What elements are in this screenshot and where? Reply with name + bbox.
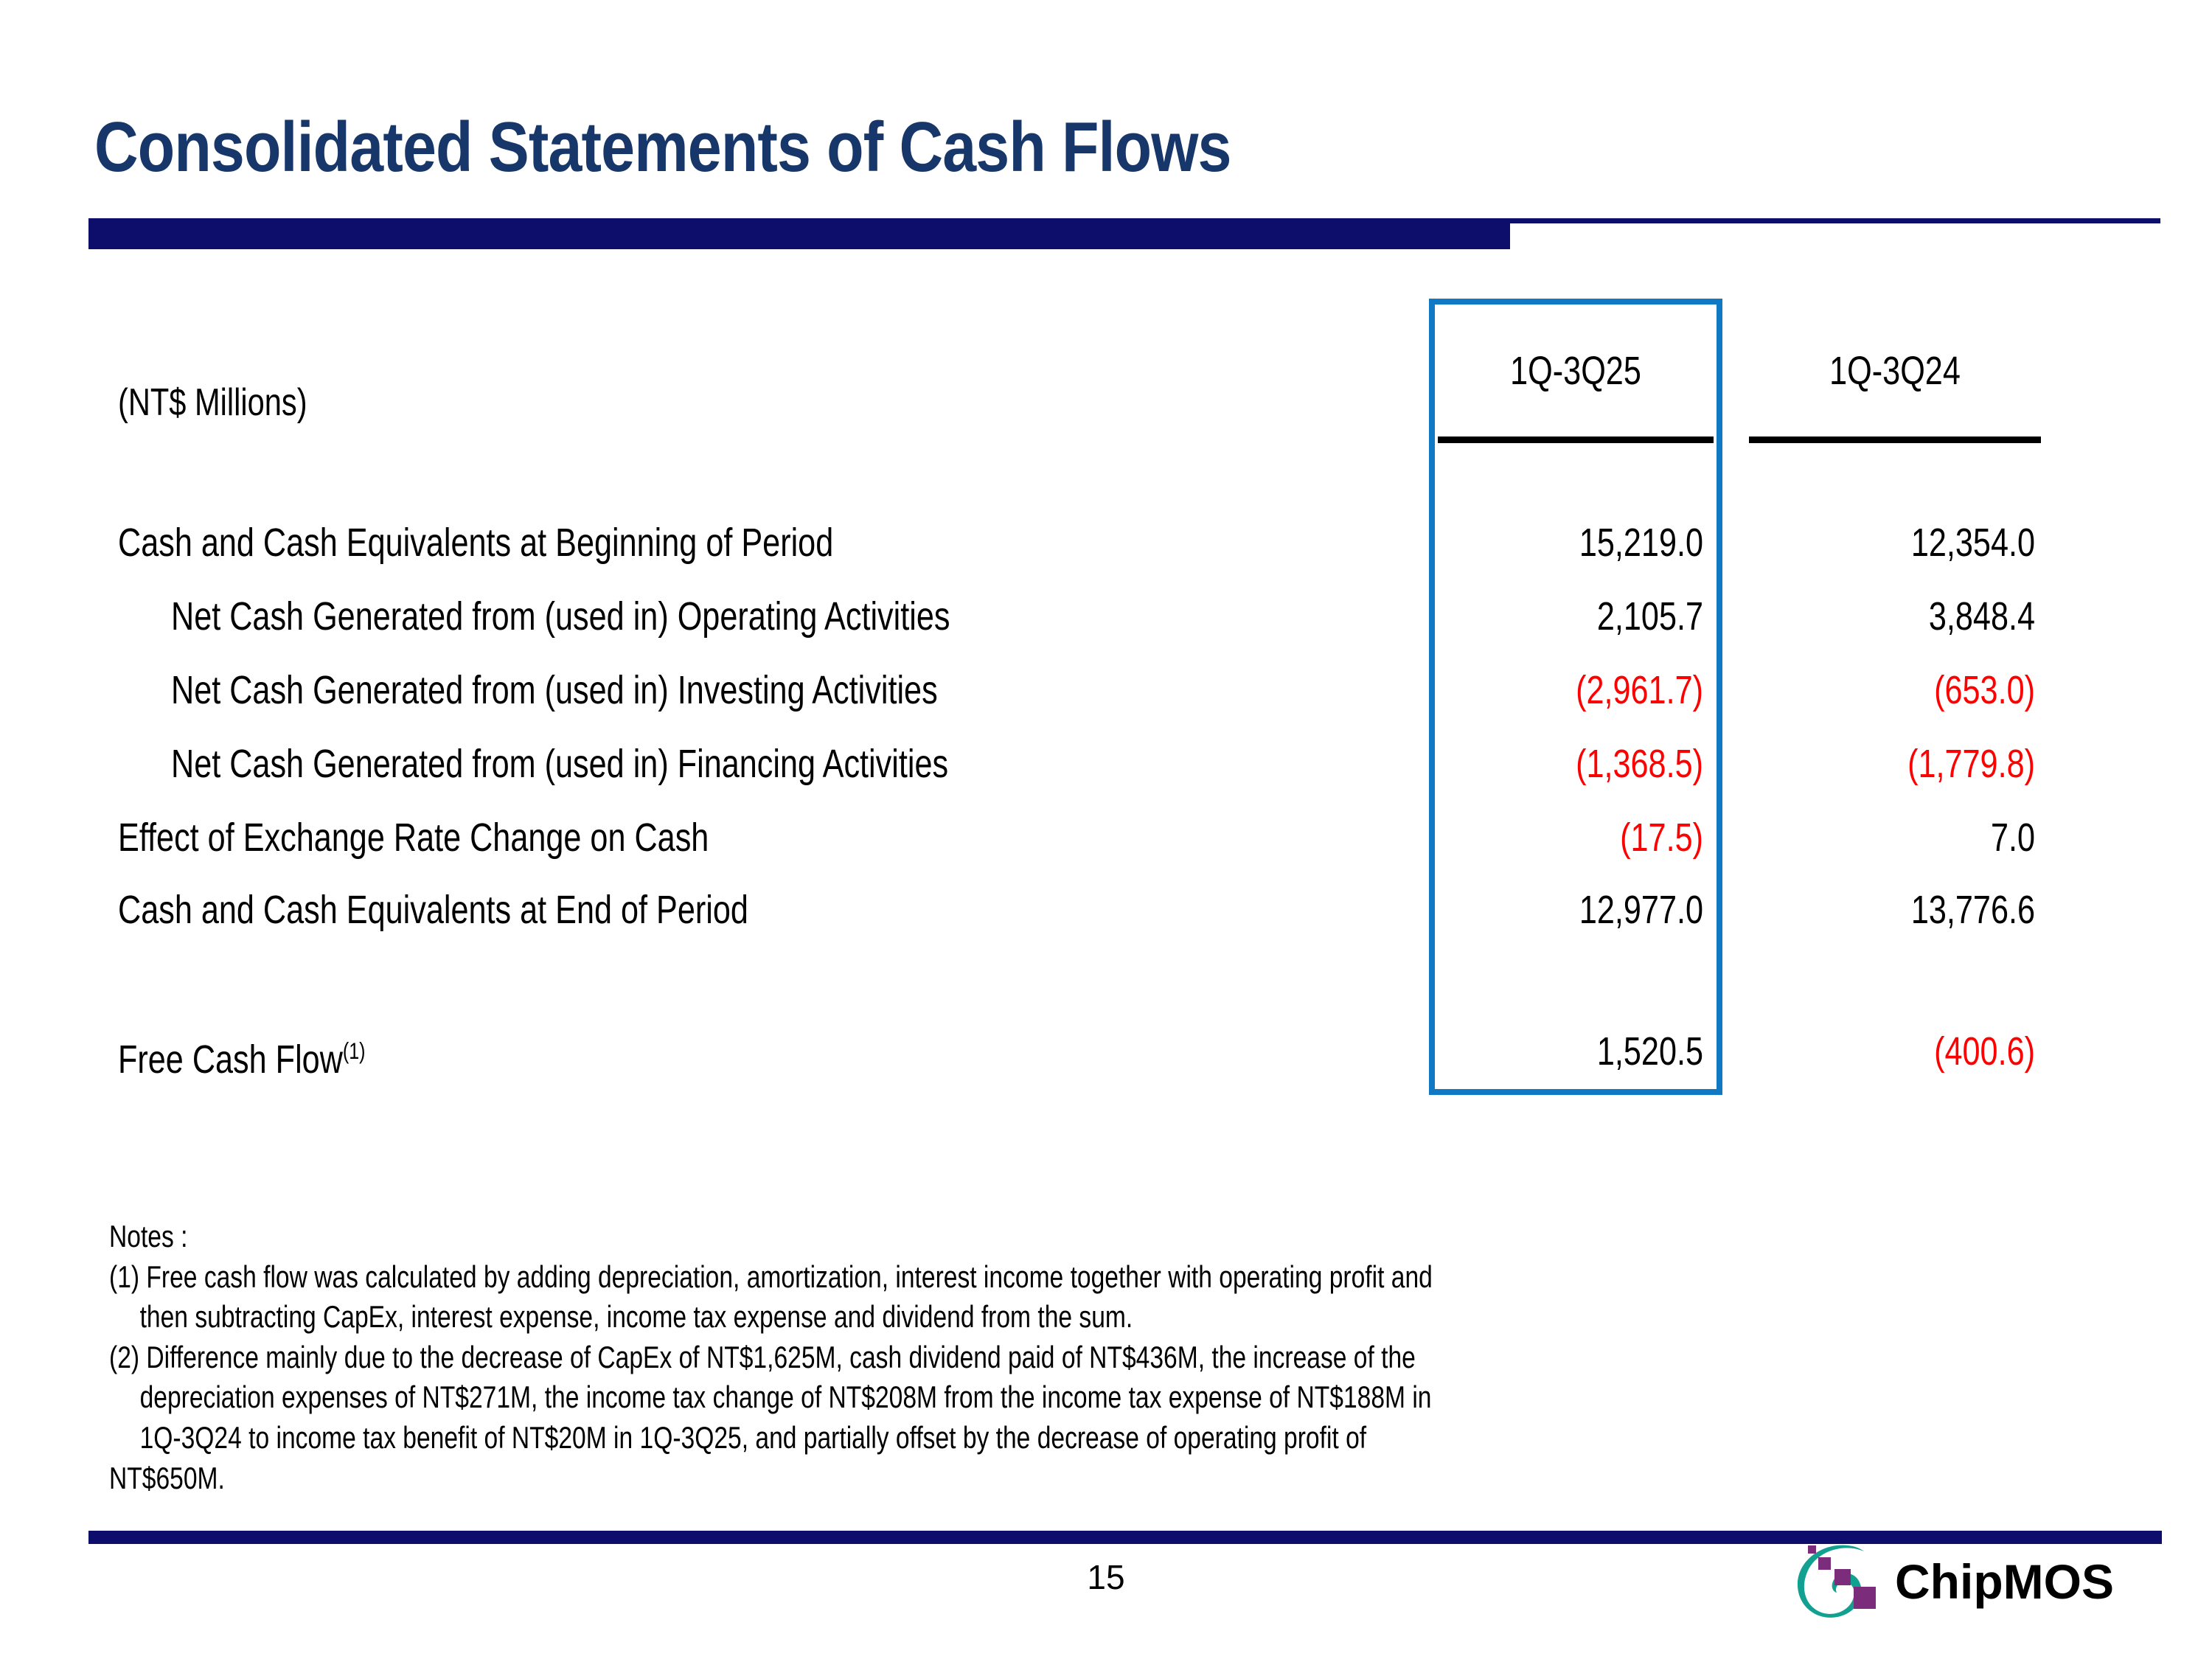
note-2-line-2: depreciation expenses of NT$271M, the in… bbox=[109, 1377, 1702, 1418]
free-cash-flow-value-prior: (400.6) bbox=[1799, 1025, 2035, 1078]
row-value-current: 12,977.0 bbox=[1484, 883, 1703, 936]
row-value-current: 15,219.0 bbox=[1484, 516, 1703, 569]
row-value-prior: 3,848.4 bbox=[1799, 590, 2035, 643]
row-value-prior: 12,354.0 bbox=[1799, 516, 2035, 569]
table-row: Cash and Cash Equivalents at End of Peri… bbox=[0, 883, 2212, 936]
table-row: Net Cash Generated from (used in) Operat… bbox=[0, 590, 2212, 643]
row-label: Cash and Cash Equivalents at Beginning o… bbox=[118, 516, 833, 569]
row-label: Net Cash Generated from (used in) Financ… bbox=[171, 737, 948, 790]
square-l bbox=[1854, 1587, 1876, 1609]
row-value-prior: 13,776.6 bbox=[1799, 883, 2035, 936]
row-value-prior: (653.0) bbox=[1799, 664, 2035, 717]
chipmos-logo: ChipMOS bbox=[1792, 1541, 2138, 1630]
note-1-line-2: then subtracting CapEx, interest expense… bbox=[109, 1297, 1702, 1338]
table-row: Net Cash Generated from (used in) Financ… bbox=[0, 737, 2212, 790]
row-value-current: (1,368.5) bbox=[1484, 737, 1703, 790]
page-number: 15 bbox=[1062, 1557, 1150, 1597]
row-label: Net Cash Generated from (used in) Invest… bbox=[171, 664, 938, 717]
table-row: Cash and Cash Equivalents at Beginning o… bbox=[0, 516, 2212, 569]
row-label: Effect of Exchange Rate Change on Cash bbox=[118, 811, 709, 864]
column-header-1q3q25: 1Q-3Q25 bbox=[1458, 348, 1693, 394]
note-1-line-1: (1) Free cash flow was calculated by add… bbox=[109, 1257, 1702, 1298]
square-m bbox=[1834, 1569, 1851, 1585]
column-rule-1 bbox=[1438, 437, 1714, 443]
square-xs bbox=[1808, 1545, 1816, 1554]
row-value-prior: 7.0 bbox=[1799, 811, 2035, 864]
note-2-line-1: (2) Difference mainly due to the decreas… bbox=[109, 1338, 1702, 1378]
row-value-prior: (1,779.8) bbox=[1799, 737, 2035, 790]
note-2-line-3: 1Q-3Q24 to income tax benefit of NT$20M … bbox=[109, 1418, 1702, 1458]
table-row: Net Cash Generated from (used in) Invest… bbox=[0, 664, 2212, 717]
row-label: Cash and Cash Equivalents at End of Peri… bbox=[118, 883, 748, 936]
notes-section: Notes : (1) Free cash flow was calculate… bbox=[109, 1217, 1702, 1498]
table-row: Effect of Exchange Rate Change on Cash (… bbox=[0, 811, 2212, 864]
row-value-current: (2,961.7) bbox=[1484, 664, 1703, 717]
row-value-current: (17.5) bbox=[1484, 811, 1703, 864]
chipmos-logo-svg: ChipMOS bbox=[1792, 1541, 2138, 1630]
note-2-line-4: NT$650M. bbox=[109, 1458, 1702, 1499]
column-rule-2 bbox=[1749, 437, 2041, 443]
units-label: (NT$ Millions) bbox=[118, 380, 307, 425]
row-value-current: 2,105.7 bbox=[1484, 590, 1703, 643]
free-cash-flow-value-current: 1,520.5 bbox=[1484, 1025, 1703, 1078]
column-header-1q3q24: 1Q-3Q24 bbox=[1771, 348, 2019, 394]
table-row: 1,520.5 (400.6) bbox=[0, 1025, 2212, 1078]
notes-heading: Notes : bbox=[109, 1217, 1702, 1257]
logo-wordmark: ChipMOS bbox=[1895, 1554, 2114, 1609]
row-label: Net Cash Generated from (used in) Operat… bbox=[171, 590, 950, 643]
square-s bbox=[1818, 1557, 1831, 1570]
